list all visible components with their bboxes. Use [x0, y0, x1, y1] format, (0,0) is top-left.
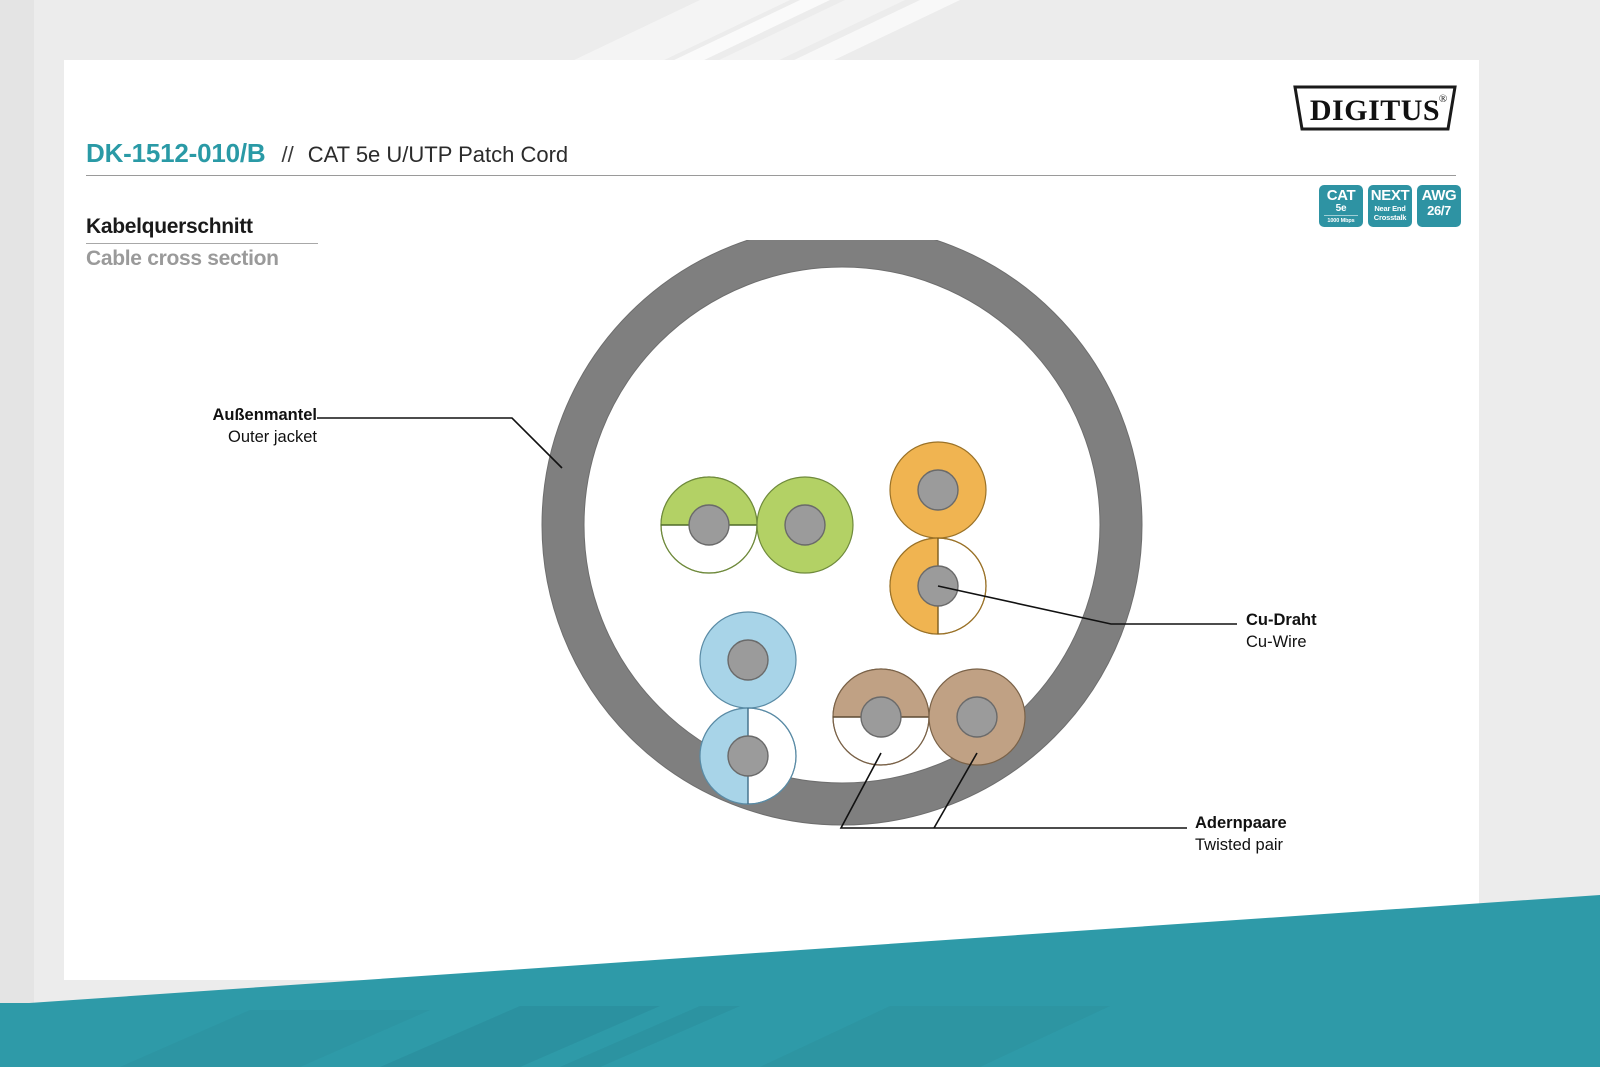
callout-twisted-pair-en: Twisted pair [1195, 836, 1284, 854]
green-striped-wire [661, 477, 757, 573]
brown-solid-wire [929, 669, 1025, 765]
cat-badge-line2: 5e [1336, 203, 1347, 214]
product-title-row: DK-1512-010/B // CAT 5e U/UTP Patch Cord [86, 138, 1456, 169]
content-card: DIGITUS ® DK-1512-010/B // CAT 5e U/UTP … [64, 60, 1479, 980]
cat-badge: CAT 5e 1000 Mbps [1319, 185, 1363, 227]
callout-twisted-pair-de: Adernpaare [1195, 814, 1287, 832]
awg-badge: AWG 26/7 [1417, 185, 1461, 227]
awg-badge-line1: AWG [1422, 188, 1457, 203]
title-divider [86, 175, 1456, 176]
orange-solid-wire [890, 442, 986, 538]
digitus-logo: DIGITUS ® [1291, 84, 1459, 132]
next-badge-line1: NEXT [1371, 188, 1409, 203]
brown-striped-wire [833, 669, 929, 765]
certification-badges: CAT 5e 1000 Mbps NEXT Near End Crosstalk… [1319, 185, 1461, 227]
next-badge-line3: Crosstalk [1374, 214, 1406, 223]
callout-cu-wire-en: Cu-Wire [1246, 633, 1307, 651]
product-name: CAT 5e U/UTP Patch Cord [308, 142, 568, 168]
blue-solid-wire [700, 612, 796, 708]
next-badge: NEXT Near End Crosstalk [1368, 185, 1412, 227]
green-solid-wire [757, 477, 853, 573]
blue-striped-wire [700, 708, 796, 804]
title-separator: // [282, 142, 294, 168]
cat-badge-line3: 1000 Mbps [1324, 215, 1358, 224]
cable-cross-section-diagram: Außenmantel Outer jacket Cu-Draht Cu-Wir… [64, 240, 1479, 960]
awg-badge-line2: 26/7 [1427, 204, 1451, 218]
svg-text:®: ® [1439, 93, 1447, 105]
slide-page: DIGITUS ® DK-1512-010/B // CAT 5e U/UTP … [0, 0, 1600, 1067]
callout-cu-wire-de: Cu-Draht [1246, 611, 1317, 629]
section-title-de: Kabelquerschnitt [86, 215, 318, 239]
callout-outer-jacket-de: Außenmantel [212, 406, 317, 424]
callout-outer-jacket: Außenmantel Outer jacket [212, 406, 562, 468]
svg-text:DIGITUS: DIGITUS [1310, 94, 1440, 127]
cat-badge-line1: CAT [1327, 188, 1356, 203]
callout-outer-jacket-en: Outer jacket [228, 428, 317, 446]
product-sku: DK-1512-010/B [86, 138, 266, 169]
